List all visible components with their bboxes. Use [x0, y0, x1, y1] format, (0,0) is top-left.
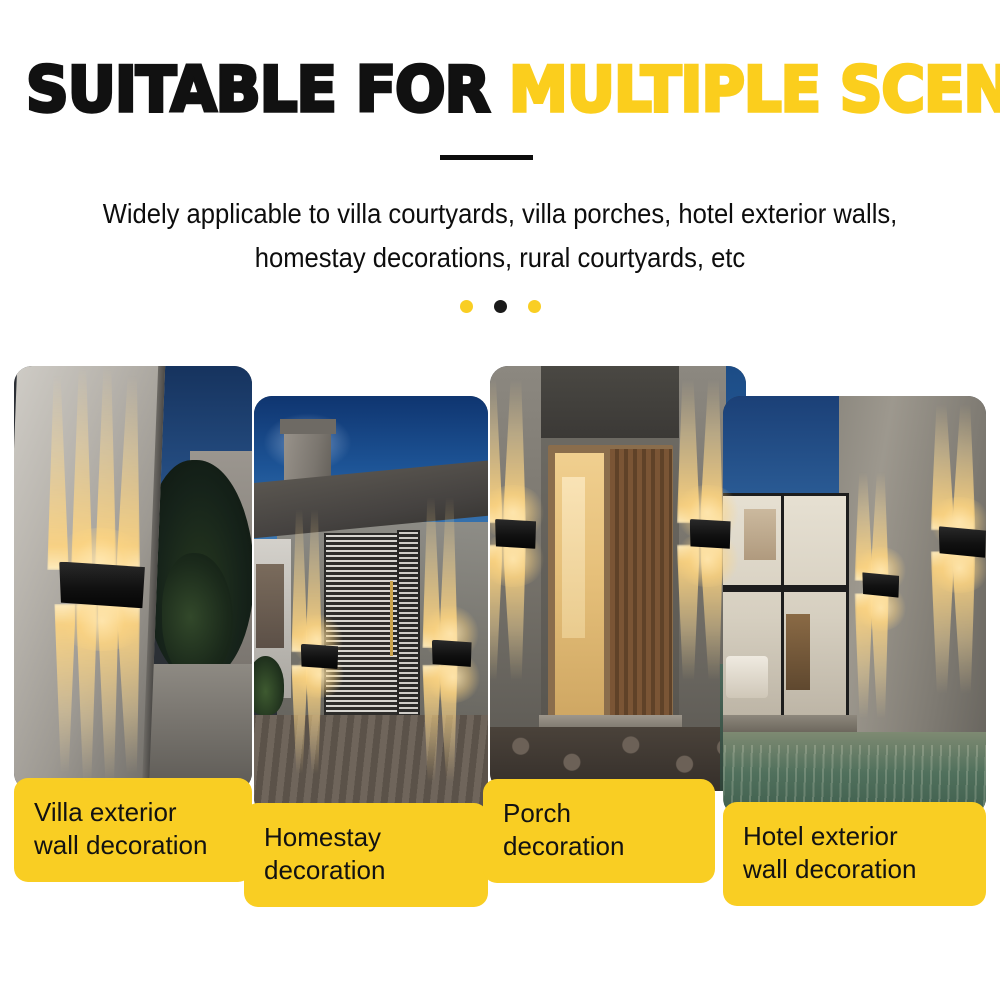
caption-hotel-exterior: Hotel exterior wall decoration [723, 802, 986, 906]
wooden-door-panel [610, 449, 671, 721]
wall-lamp-fixture-far [862, 572, 899, 597]
photo-villa-exterior [14, 366, 252, 791]
door-handle [390, 581, 394, 657]
caption-line-2: wall decoration [34, 829, 236, 862]
caption-homestay: Homestay decoration [244, 803, 488, 907]
wall-lamp-fixture-left [301, 644, 338, 669]
chimney-cap [280, 419, 336, 434]
wall-lamp-fixture-right [690, 519, 731, 549]
interior-doorway [786, 614, 810, 690]
interior-sofa [726, 656, 768, 698]
scenario-photo-hotel-exterior[interactable] [723, 396, 986, 816]
wall-lamp-fixture [59, 562, 145, 609]
caption-line-1: Porch [503, 797, 699, 830]
wall-lamp-fixture-left [495, 519, 536, 549]
caption-villa-exterior: Villa exterior wall decoration [14, 778, 252, 882]
scenario-photo-porch[interactable] [490, 366, 746, 791]
porch-soffit [541, 366, 679, 438]
scenario-gallery: Villa exterior wall decoration [0, 0, 1000, 1000]
caption-line-1: Hotel exterior [743, 820, 970, 853]
scenario-photo-villa-exterior[interactable] [14, 366, 252, 791]
caption-line-1: Homestay [264, 821, 472, 854]
photo-porch [490, 366, 746, 791]
wooden-deck [254, 715, 488, 816]
wall-lamp-fixture-near [939, 526, 986, 558]
ground [138, 664, 252, 792]
photo-homestay [254, 396, 488, 816]
caption-line-2: decoration [264, 854, 472, 887]
wall-lamp-fixture-right [432, 640, 472, 667]
scenario-photo-homestay[interactable] [254, 396, 488, 816]
caption-line-2: wall decoration [743, 853, 970, 886]
caption-porch: Porch decoration [483, 779, 715, 883]
photo-hotel-exterior [723, 396, 986, 816]
caption-line-1: Villa exterior [34, 796, 236, 829]
upper-room-interior [744, 509, 776, 559]
facade-mullion-horizontal [723, 585, 849, 592]
foliage-secondary [162, 553, 233, 681]
facade-mullion-vertical [781, 493, 784, 720]
interior-reflection [562, 477, 585, 639]
caption-line-2: decoration [503, 830, 699, 863]
brick-wall-detail [256, 564, 284, 648]
